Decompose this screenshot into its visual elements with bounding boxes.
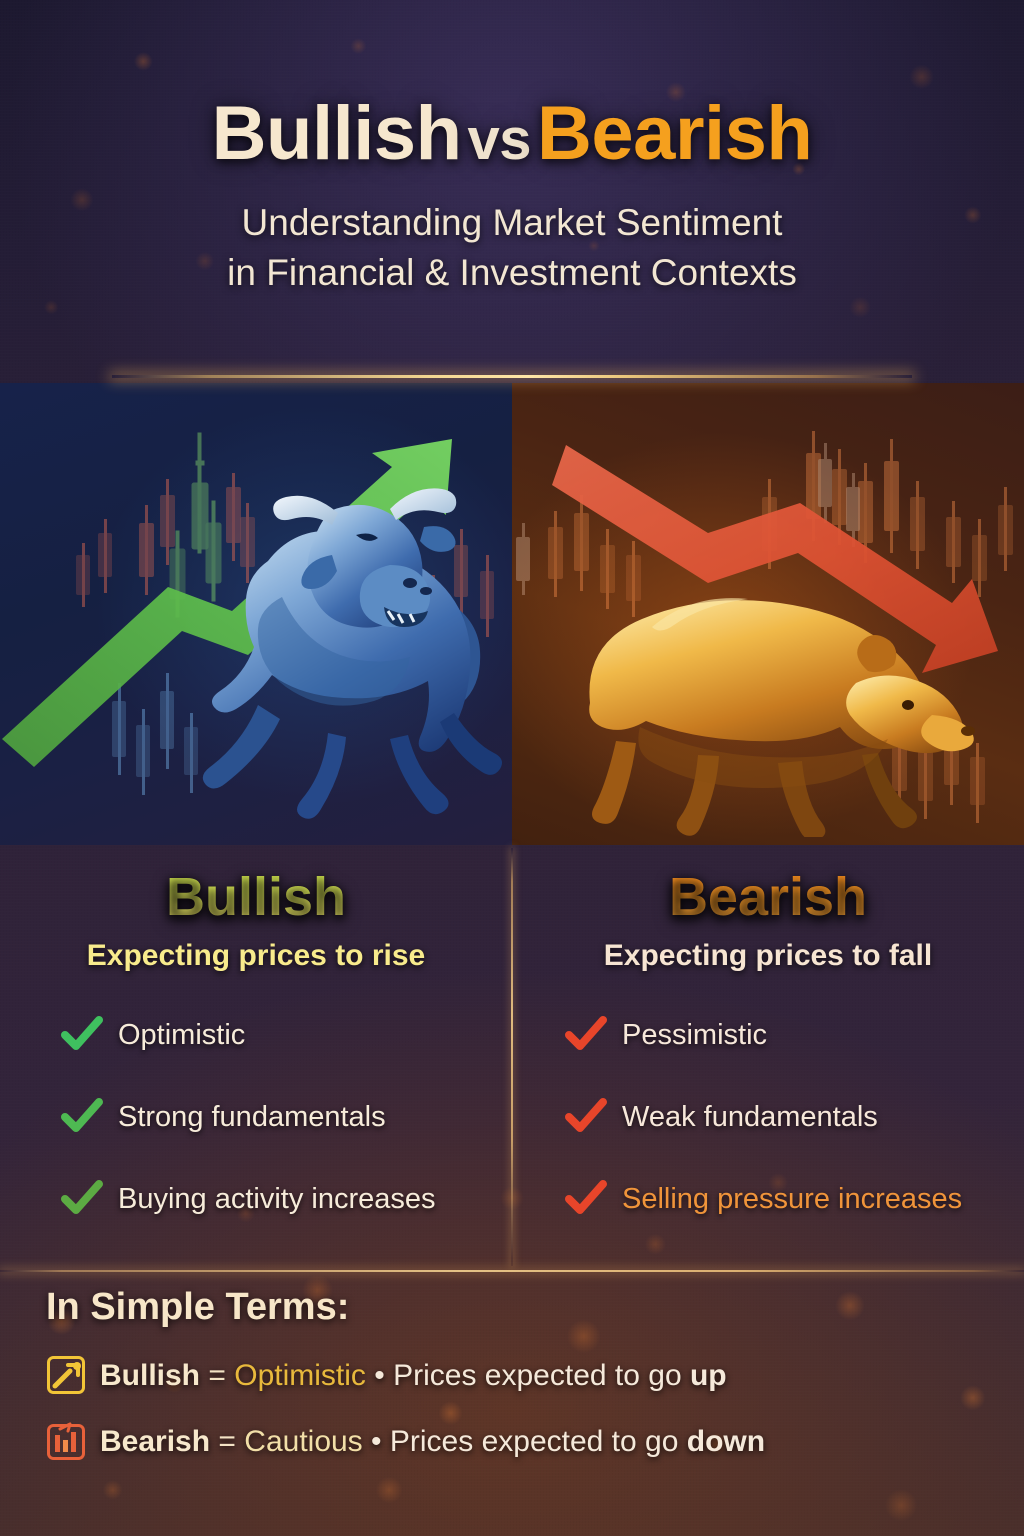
term-emphasis: down [687,1425,765,1458]
bear-label-column: Bearish Expecting prices to fall Pessimi… [512,855,1024,1255]
header-divider [112,375,912,378]
green-check-icon [60,1011,104,1060]
term-rest: Prices expected to go [390,1425,679,1458]
red-check-icon [564,1011,608,1060]
bearish-subtitle: Expecting prices to fall [512,939,1024,973]
term-row-bearish: Bearish = Cautious • Prices expected to … [46,1421,978,1461]
footer-heading: In Simple Terms: [46,1286,978,1329]
subtitle-line-2: in Financial & Investment Contexts [0,248,1024,298]
footer-divider [0,1270,1024,1272]
bullet-label: Strong fundamentals [118,1101,386,1134]
chart-up-key-icon [46,1355,86,1395]
bearish-bullet-list: Pessimistic Weak fundamentals Selling pr… [512,1011,1024,1224]
list-item: Selling pressure increases [512,1175,1024,1224]
bull-artwork-panel [0,383,512,845]
list-item: Buying activity increases [0,1175,512,1224]
title-vs: vs [462,107,538,172]
bullet-label: Weak fundamentals [622,1101,878,1134]
artwork-row [0,383,1024,845]
green-check-icon [60,1093,104,1142]
bullet-label: Optimistic [118,1019,245,1052]
term-value: Optimistic [234,1359,366,1392]
term-rest: Prices expected to go [393,1359,682,1392]
bull-illustration [132,415,504,845]
bull-label-column: Bullish Expecting prices to rise Optimis… [0,855,512,1255]
term-equals: = [218,1425,236,1458]
term-emphasis: up [690,1359,727,1392]
bullish-subtitle: Expecting prices to rise [0,939,512,973]
subtitle: Understanding Market Sentiment in Financ… [0,198,1024,299]
term-text-bullish: Bullish = Optimistic • Prices expected t… [100,1359,727,1392]
term-equals: = [208,1359,226,1392]
term-separator: • [371,1425,382,1458]
term-value: Cautious [244,1425,362,1458]
footer: In Simple Terms: Bullish = Optimistic • … [0,1286,1024,1461]
bullish-bullet-list: Optimistic Strong fundamentals Buying ac… [0,1011,512,1224]
red-check-icon [564,1093,608,1142]
subtitle-line-1: Understanding Market Sentiment [0,198,1024,248]
bullish-heading: Bullish [0,869,512,926]
bearish-heading: Bearish [512,869,1024,926]
list-item: Weak fundamentals [512,1093,1024,1142]
panel-vertical-divider [511,848,513,1266]
bar-chart-down-icon [46,1421,86,1461]
bullet-label: Selling pressure increases [622,1183,962,1216]
green-check-icon [60,1175,104,1224]
page-title: BullishvsBearish [0,96,1024,172]
term-key: Bearish [100,1425,210,1458]
list-item: Pessimistic [512,1011,1024,1060]
list-item: Optimistic [0,1011,512,1060]
title-bearish: Bearish [537,91,812,176]
bullet-label: Buying activity increases [118,1183,436,1216]
bullet-label: Pessimistic [622,1019,767,1052]
title-bullish: Bullish [212,91,462,176]
term-row-bullish: Bullish = Optimistic • Prices expected t… [46,1355,978,1395]
term-key: Bullish [100,1359,200,1392]
bear-artwork-panel [512,383,1024,845]
red-check-icon [564,1175,608,1224]
list-item: Strong fundamentals [0,1093,512,1142]
infographic-poster: BullishvsBearish Understanding Market Se… [0,0,1024,1536]
term-text-bearish: Bearish = Cautious • Prices expected to … [100,1425,765,1458]
term-separator: • [374,1359,385,1392]
header: BullishvsBearish Understanding Market Se… [0,0,1024,299]
bear-illustration [556,565,996,837]
